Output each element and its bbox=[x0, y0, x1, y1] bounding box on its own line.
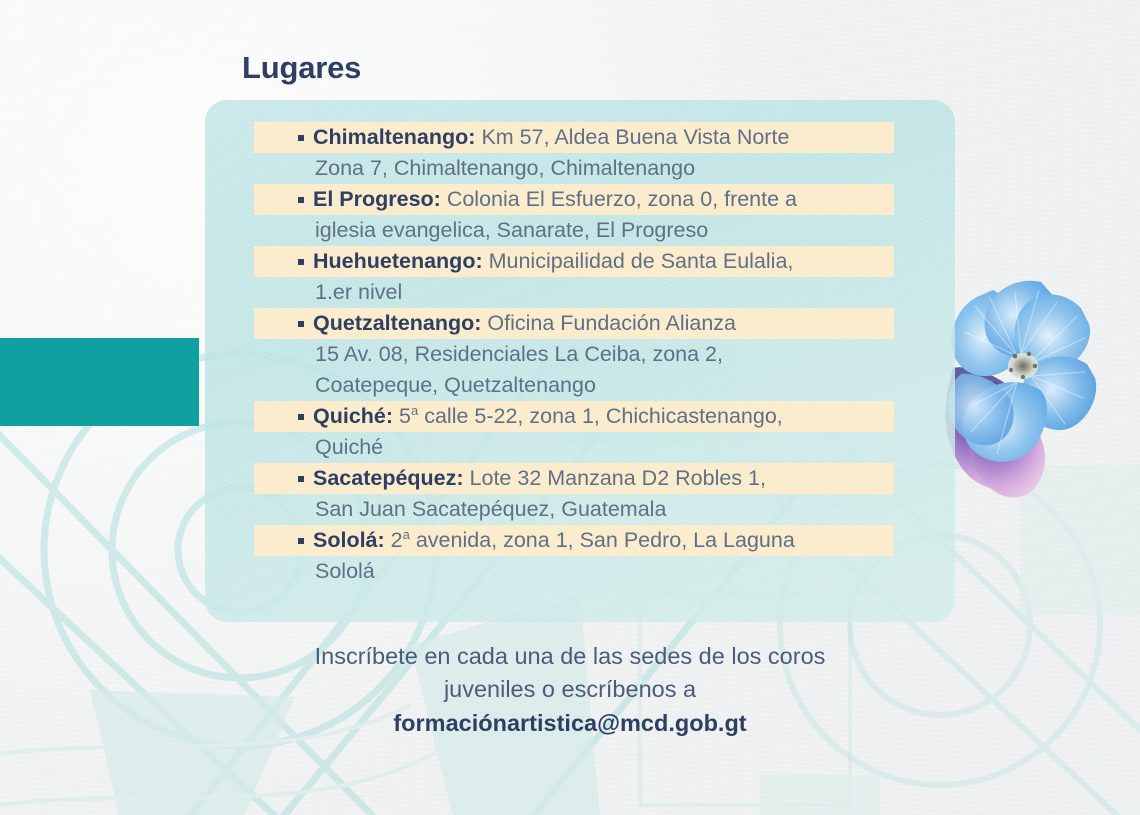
place-item: Sololá: 2a avenida, zona 1, San Pedro, L… bbox=[254, 525, 894, 587]
place-continuation-line: Zona 7, Chimaltenango, Chimaltenango bbox=[254, 153, 894, 184]
page-title: Lugares bbox=[242, 50, 361, 86]
address-ordinal-number: 5 bbox=[399, 404, 411, 428]
department-label: Quetzaltenango: bbox=[313, 311, 481, 335]
places-list: Chimaltenango: Km 57, Aldea Buena Vista … bbox=[254, 122, 894, 587]
flower-decoration bbox=[945, 272, 1140, 502]
address-continuation: Quiché bbox=[254, 435, 383, 459]
place-item: Quiché: 5a calle 5-22, zona 1, Chichicas… bbox=[254, 401, 894, 463]
address-first-line: Colonia El Esfuerzo, zona 0, frente a bbox=[447, 187, 797, 211]
address-first-line: avenida, zona 1, San Pedro, La Laguna bbox=[410, 528, 795, 552]
place-item: Huehuetenango: Municipailidad de Santa E… bbox=[254, 246, 894, 308]
square-bullet-icon bbox=[298, 259, 304, 265]
address-first-line: Km 57, Aldea Buena Vista Norte bbox=[481, 125, 789, 149]
place-head-line: Chimaltenango: Km 57, Aldea Buena Vista … bbox=[254, 122, 894, 153]
address-continuation: Sololá bbox=[254, 559, 375, 583]
place-continuation-line: 1.er nivel bbox=[254, 277, 894, 308]
place-head-line: Huehuetenango: Municipailidad de Santa E… bbox=[254, 246, 894, 277]
place-continuation-line: San Juan Sacatepéquez, Guatemala bbox=[254, 494, 894, 525]
footer-line-2: juveniles o escríbenos a bbox=[0, 673, 1140, 706]
teal-accent-block bbox=[0, 338, 199, 426]
department-label: Sacatepéquez: bbox=[313, 466, 464, 490]
place-item: Sacatepéquez: Lote 32 Manzana D2 Robles … bbox=[254, 463, 894, 525]
place-head-line: Quetzaltenango: Oficina Fundación Alianz… bbox=[254, 308, 894, 339]
place-continuation-line: Coatepeque, Quetzaltenango bbox=[254, 370, 894, 401]
place-head-line: El Progreso: Colonia El Esfuerzo, zona 0… bbox=[254, 184, 894, 215]
address-first-line: Oficina Fundación Alianza bbox=[487, 311, 736, 335]
footer-line-1: Inscríbete en cada una de las sedes de l… bbox=[0, 640, 1140, 673]
contact-email[interactable]: formaciónartistica@mcd.gob.gt bbox=[0, 706, 1140, 740]
place-head-line: Sololá: 2a avenida, zona 1, San Pedro, L… bbox=[254, 525, 894, 556]
poster-page: Lugares Chimaltenango: Km 57, Aldea Buen… bbox=[0, 0, 1140, 815]
address-continuation: Coatepeque, Quetzaltenango bbox=[254, 373, 596, 397]
footer-block: Inscríbete en cada una de las sedes de l… bbox=[0, 640, 1140, 740]
department-label: Sololá: bbox=[313, 528, 385, 552]
square-bullet-icon bbox=[298, 135, 304, 141]
place-item: Quetzaltenango: Oficina Fundación Alianz… bbox=[254, 308, 894, 401]
department-label: Quiché: bbox=[313, 404, 393, 428]
place-item: El Progreso: Colonia El Esfuerzo, zona 0… bbox=[254, 184, 894, 246]
address-ordinal-suffix: a bbox=[403, 527, 410, 542]
place-head-line: Sacatepéquez: Lote 32 Manzana D2 Robles … bbox=[254, 463, 894, 494]
address-continuation: 15 Av. 08, Residenciales La Ceiba, zona … bbox=[254, 342, 723, 366]
square-bullet-icon bbox=[298, 321, 304, 327]
address-continuation: Zona 7, Chimaltenango, Chimaltenango bbox=[254, 156, 695, 180]
place-continuation-line: Quiché bbox=[254, 432, 894, 463]
address-first-line: Municipailidad de Santa Eulalia, bbox=[489, 249, 794, 273]
address-continuation: 1.er nivel bbox=[254, 280, 402, 304]
place-head-line: Quiché: 5a calle 5-22, zona 1, Chichicas… bbox=[254, 401, 894, 432]
department-label: Chimaltenango: bbox=[313, 125, 475, 149]
address-ordinal-number: 2 bbox=[391, 528, 403, 552]
address-first-line: calle 5-22, zona 1, Chichicastenango, bbox=[418, 404, 783, 428]
department-label: El Progreso: bbox=[313, 187, 441, 211]
square-bullet-icon bbox=[298, 197, 304, 203]
place-continuation-line: Sololá bbox=[254, 556, 894, 587]
place-continuation-line: 15 Av. 08, Residenciales La Ceiba, zona … bbox=[254, 339, 894, 370]
square-bullet-icon bbox=[298, 538, 304, 544]
address-continuation: iglesia evangelica, Sanarate, El Progres… bbox=[254, 218, 708, 242]
address-continuation: San Juan Sacatepéquez, Guatemala bbox=[254, 497, 666, 521]
square-bullet-icon bbox=[298, 476, 304, 482]
square-bullet-icon bbox=[298, 414, 304, 420]
place-item: Chimaltenango: Km 57, Aldea Buena Vista … bbox=[254, 122, 894, 184]
place-continuation-line: iglesia evangelica, Sanarate, El Progres… bbox=[254, 215, 894, 246]
department-label: Huehuetenango: bbox=[313, 249, 483, 273]
places-card: Chimaltenango: Km 57, Aldea Buena Vista … bbox=[205, 100, 955, 622]
address-first-line: Lote 32 Manzana D2 Robles 1, bbox=[470, 466, 766, 490]
